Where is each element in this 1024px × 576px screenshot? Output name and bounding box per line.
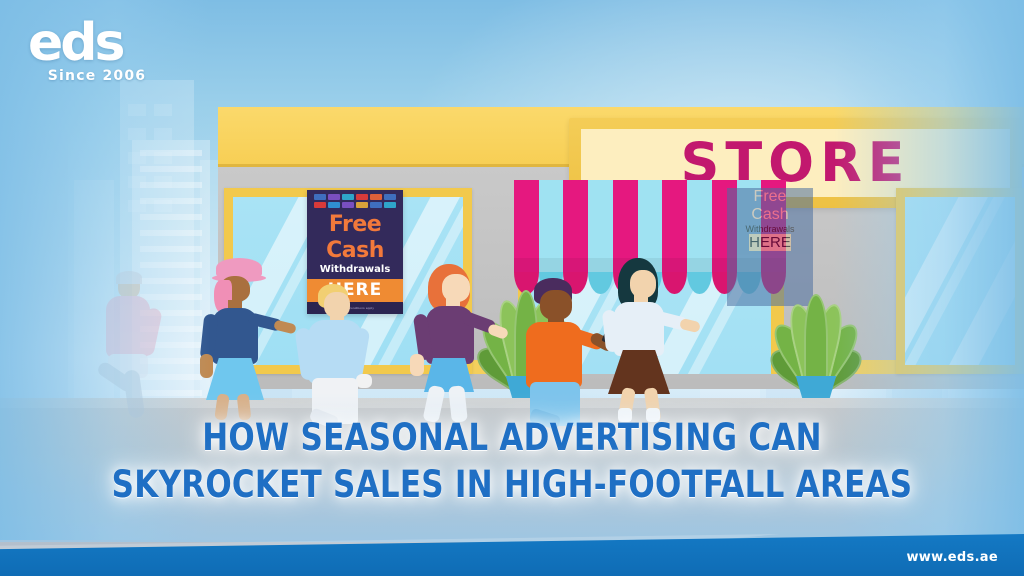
poster-headline-line1: Free [329, 214, 381, 236]
plant-right [768, 286, 864, 398]
poster-bank-logos [307, 190, 403, 210]
plant-right-leaves [768, 286, 864, 382]
skirt-brown [608, 350, 670, 394]
poster-subline-secondary: Withdrawals [745, 224, 794, 234]
headline-line-2: SKYROCKET SALES IN HIGH-FOOTFALL AREAS [36, 461, 988, 508]
window-glass-right [905, 197, 1015, 365]
eds-logo-wordmark: eds [22, 20, 172, 67]
eds-logo[interactable]: eds Since 2006 [22, 20, 172, 84]
top-white [614, 302, 664, 356]
bottom-banner: www.eds.ae [0, 534, 1024, 576]
pedestrian-pink-hat-woman [186, 258, 296, 420]
poster-cta-secondary: HERE [749, 234, 791, 251]
poster-headline-line1-secondary: Free [754, 188, 787, 206]
pedestrian-pink-background [86, 274, 170, 420]
poster-headline-line2-secondary: Cash [751, 206, 788, 224]
store-window-right [896, 188, 1024, 374]
website-url[interactable]: www.eds.ae [906, 550, 998, 565]
headline-line-1: HOW SEASONAL ADVERTISING CAN [36, 414, 988, 461]
plant-right-pot [793, 376, 839, 398]
banner-canvas: STORE [0, 0, 1024, 576]
headline-block: HOW SEASONAL ADVERTISING CAN SKYROCKET S… [0, 414, 1024, 509]
poster-headline-line2: Cash [326, 240, 384, 262]
pedestrian-redhead-woman [404, 264, 508, 422]
pedestrian-dark-hair-woman [592, 258, 698, 422]
poster-subline: Withdrawals [320, 264, 391, 275]
skirt-lightblue [206, 358, 264, 400]
pedestrian-blonde-man [288, 284, 396, 426]
